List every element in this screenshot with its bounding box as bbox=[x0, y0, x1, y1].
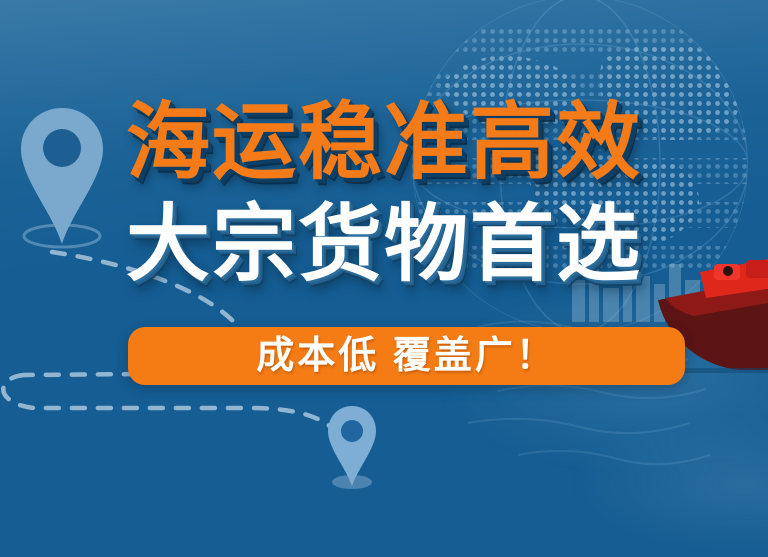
cta-button-label: 成本低 覆盖广！ bbox=[256, 337, 557, 375]
headline-line-1: 海运稳准高效 bbox=[126, 100, 696, 184]
headline-line-2: 大宗货物首选 bbox=[126, 202, 696, 286]
map-pin-icon bbox=[326, 404, 378, 492]
headline-block: 海运稳准高效 大宗货物首选 bbox=[126, 100, 696, 286]
promo-banner: 海运稳准高效 大宗货物首选 成本低 覆盖广！ bbox=[0, 0, 768, 557]
map-pin-icon bbox=[18, 104, 106, 254]
cta-button[interactable]: 成本低 覆盖广！ bbox=[128, 327, 685, 385]
